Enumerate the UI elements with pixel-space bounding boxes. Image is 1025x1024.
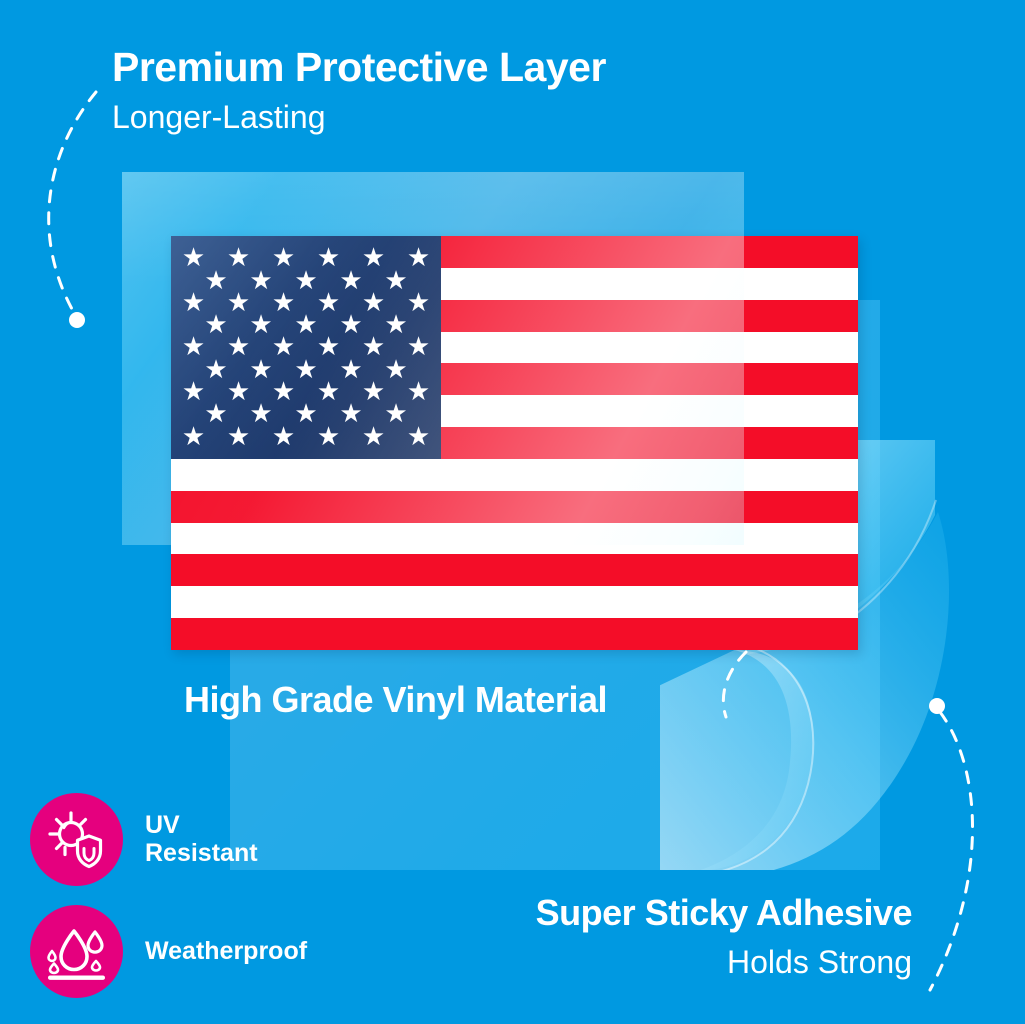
flag-star: ★ [384, 312, 407, 338]
flag-star: ★ [339, 268, 362, 294]
flag-star: ★ [182, 424, 205, 450]
flag-star: ★ [272, 379, 295, 405]
flag-star: ★ [362, 424, 385, 450]
feature-badge-uv: UV Resistant [30, 793, 258, 886]
flag-star: ★ [407, 245, 430, 271]
callout-middle-title: High Grade Vinyl Material [184, 679, 607, 721]
water-droplet-icon [46, 923, 108, 981]
flag-star: ★ [227, 334, 250, 360]
flag-star: ★ [227, 379, 250, 405]
flag-star: ★ [204, 357, 227, 383]
flag-star: ★ [384, 401, 407, 427]
flag-star: ★ [272, 290, 295, 316]
feature-badge-weatherproof: Weatherproof [30, 905, 307, 998]
flag-star: ★ [182, 334, 205, 360]
flag-star: ★ [407, 334, 430, 360]
flag-star: ★ [272, 334, 295, 360]
dot-bottom-right [929, 698, 945, 714]
flag-star: ★ [182, 379, 205, 405]
flag-star: ★ [362, 334, 385, 360]
flag-star: ★ [362, 379, 385, 405]
flag-star: ★ [204, 268, 227, 294]
flag-star: ★ [339, 312, 362, 338]
infographic-canvas: ★★★★★★★★★★★★★★★★★★★★★★★★★★★★★★★★★★★★★★★★… [0, 0, 1025, 1024]
flag-star: ★ [317, 245, 340, 271]
flag-star: ★ [384, 268, 407, 294]
flag-star: ★ [407, 290, 430, 316]
flag-star: ★ [317, 290, 340, 316]
flag-star: ★ [182, 290, 205, 316]
flag-star: ★ [339, 401, 362, 427]
flag-star: ★ [249, 268, 272, 294]
flag-star: ★ [227, 290, 250, 316]
flag-star: ★ [339, 357, 362, 383]
flag-star: ★ [227, 245, 250, 271]
flag-star: ★ [249, 312, 272, 338]
flag-stripe [171, 491, 858, 523]
callout-bottom-title: Super Sticky Adhesive [536, 892, 912, 934]
flag-star: ★ [407, 379, 430, 405]
flag-stripe [171, 523, 858, 555]
flag-star: ★ [317, 379, 340, 405]
badge-circle-weatherproof [30, 905, 123, 998]
callout-bottom-subtitle: Holds Strong [727, 944, 912, 981]
flag-canton: ★★★★★★★★★★★★★★★★★★★★★★★★★★★★★★★★★★★★★★★★… [171, 236, 441, 459]
flag-star: ★ [249, 357, 272, 383]
flag-star: ★ [407, 424, 430, 450]
badge-circle-uv [30, 793, 123, 886]
flag-star: ★ [294, 401, 317, 427]
dashed-arc-middle [723, 652, 746, 717]
flag-star: ★ [384, 357, 407, 383]
flag-stripe [171, 554, 858, 586]
flag-stripe [171, 618, 858, 650]
flag-star: ★ [362, 245, 385, 271]
dashed-arc-bottom-right [930, 712, 973, 990]
flag-star: ★ [317, 424, 340, 450]
flag-stripe [171, 459, 858, 491]
flag-star: ★ [317, 334, 340, 360]
flag-stripe [171, 586, 858, 618]
flag-star: ★ [272, 424, 295, 450]
callout-top-title: Premium Protective Layer [112, 44, 606, 91]
feature-label-weatherproof: Weatherproof [145, 938, 307, 966]
flag-star: ★ [227, 424, 250, 450]
flag-star: ★ [294, 312, 317, 338]
dashed-arc-top-left [49, 92, 96, 318]
flag-star: ★ [294, 268, 317, 294]
feature-label-uv: UV Resistant [145, 812, 258, 867]
flag-star: ★ [204, 312, 227, 338]
flag-star: ★ [182, 245, 205, 271]
flag-star: ★ [249, 401, 272, 427]
american-flag-sticker: ★★★★★★★★★★★★★★★★★★★★★★★★★★★★★★★★★★★★★★★★… [171, 236, 858, 650]
dot-top-left [69, 312, 85, 328]
flag-star: ★ [204, 401, 227, 427]
sun-shield-icon [47, 810, 107, 870]
flag-star: ★ [272, 245, 295, 271]
callout-top-subtitle: Longer-Lasting [112, 99, 325, 136]
flag-star: ★ [294, 357, 317, 383]
flag-star: ★ [362, 290, 385, 316]
